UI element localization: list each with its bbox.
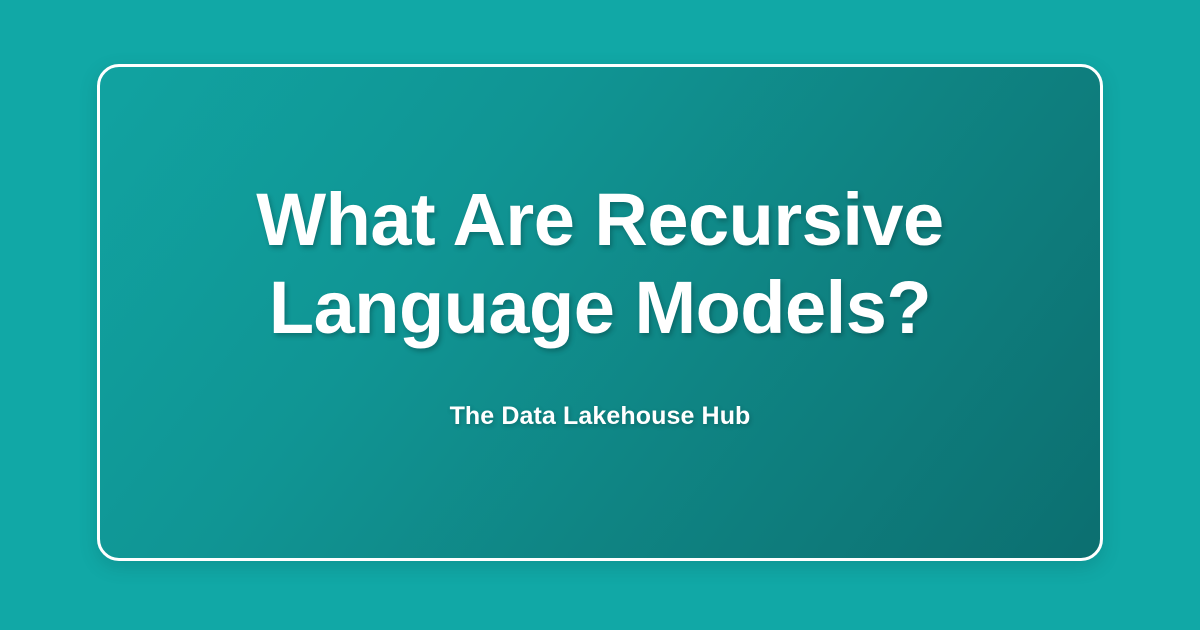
og-canvas: What Are Recursive Language Models? The … [0,0,1200,630]
og-card: What Are Recursive Language Models? The … [97,64,1103,561]
site-name-subtitle: The Data Lakehouse Hub [170,400,1030,432]
card-content: What Are Recursive Language Models? The … [100,176,1100,432]
page-title: What Are Recursive Language Models? [250,176,950,352]
